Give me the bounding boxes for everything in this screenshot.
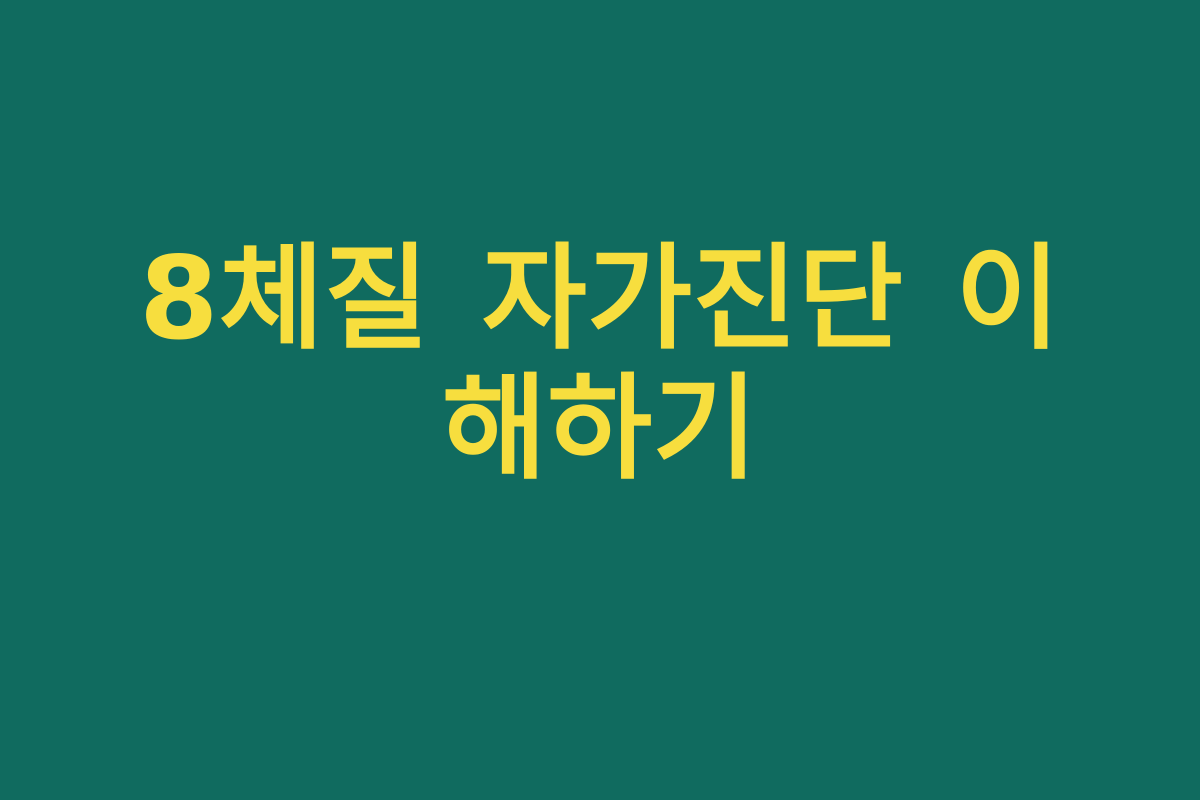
title-card: 8체질 자가진단 이해하기 — [0, 0, 1200, 800]
heading-block: 8체질 자가진단 이해하기 — [100, 234, 1100, 494]
page-title: 8체질 자가진단 이해하기 — [120, 234, 1080, 494]
